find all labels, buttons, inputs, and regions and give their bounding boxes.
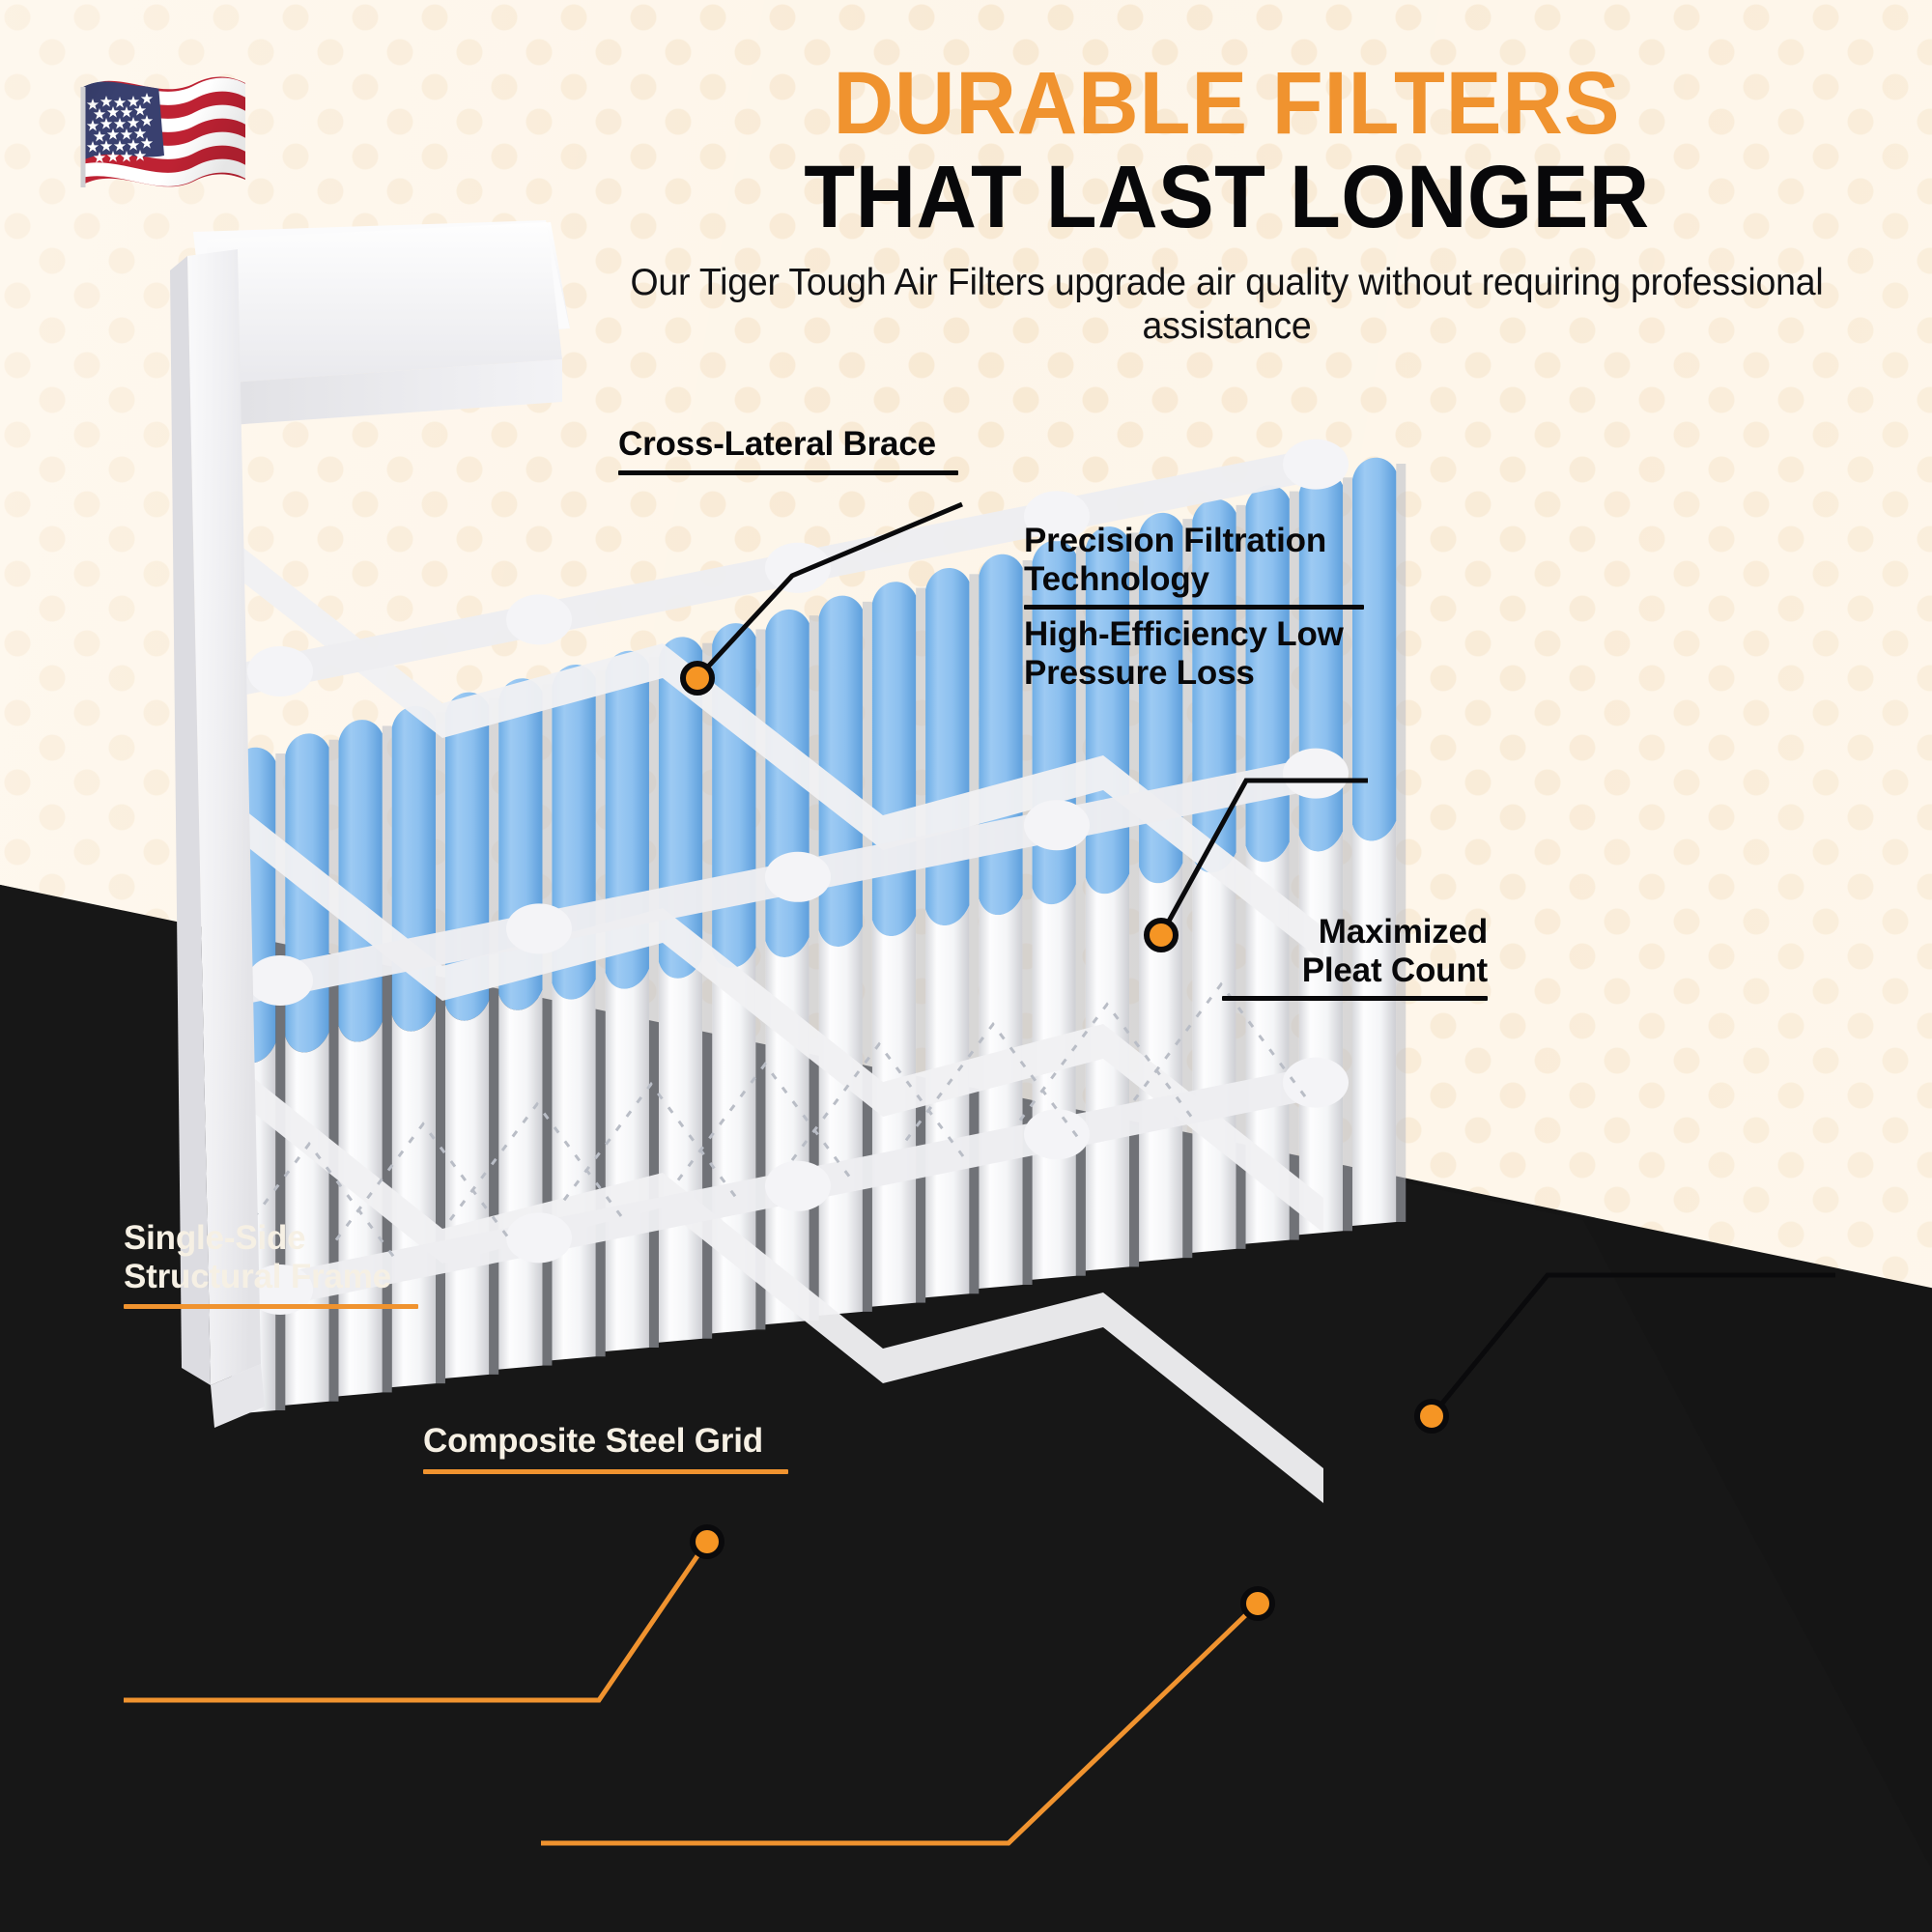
pleat-blue-segment — [979, 554, 1022, 915]
callout-rule — [618, 470, 958, 475]
pleat-media-segment — [552, 980, 595, 1360]
grid-node — [1024, 1109, 1090, 1159]
pleat-media-segment — [659, 958, 702, 1343]
callout-rule — [1024, 605, 1364, 610]
grid-node — [506, 1212, 572, 1263]
structural-frame — [187, 220, 570, 427]
callout-precision-filtration-label: Precision Filtration Technology — [1024, 522, 1364, 598]
pleat-media-segment — [979, 895, 1022, 1289]
pleat-gap-shadow — [489, 698, 498, 1375]
pleat-blue-segment — [872, 582, 916, 936]
grid-node — [1024, 800, 1090, 850]
pleat-media-segment — [498, 990, 542, 1370]
headline-primary: DURABLE FILTERS — [618, 60, 1835, 147]
pleat-gap-shadow — [649, 657, 659, 1348]
pleat-gap-shadow — [596, 670, 606, 1356]
pleat-media-segment — [1352, 821, 1396, 1226]
grid-node — [765, 1161, 831, 1211]
callout-precision-filtration: Precision Filtration Technology — [1024, 522, 1364, 610]
grid-node — [1283, 749, 1349, 799]
pleat-media-segment — [819, 926, 863, 1316]
pleat-blue-segment — [338, 720, 382, 1041]
callout-rule — [1222, 996, 1488, 1001]
grid-node — [247, 955, 313, 1006]
pleat-gap-shadow — [810, 615, 819, 1321]
pleat-gap-shadow — [436, 712, 445, 1383]
pleat-media-segment — [1299, 832, 1343, 1236]
pleat-gap-shadow — [916, 588, 925, 1303]
callout-composite-steel-grid: Composite Steel Grid — [423, 1422, 788, 1474]
pleat-blue-segment — [712, 623, 755, 968]
pleat-media-segment — [445, 1001, 489, 1378]
callout-rule — [423, 1469, 788, 1474]
callout-composite-steel-grid-label: Composite Steel Grid — [423, 1422, 788, 1461]
grid-node — [247, 646, 313, 696]
callout-maximized-pleat-count-label: Maximized Pleat Count — [1222, 913, 1488, 989]
grid-node — [765, 852, 831, 902]
callout-cross-lateral-brace-label: Cross-Lateral Brace — [618, 425, 958, 464]
pleat-media-segment — [606, 969, 649, 1351]
pleat-blue-segment — [925, 568, 969, 925]
pleat-gap-shadow — [1396, 464, 1406, 1222]
callout-cross-lateral-brace: Cross-Lateral Brace — [618, 425, 958, 475]
grid-node — [765, 543, 831, 593]
grid-node — [506, 903, 572, 953]
grid-node — [1283, 1058, 1349, 1108]
pleat-gap-shadow — [969, 574, 979, 1293]
grid-node — [506, 594, 572, 644]
callout-high-efficiency-label: High-Efficiency Low Pressure Loss — [1024, 615, 1344, 692]
pleat-media-segment — [1033, 884, 1076, 1279]
callout-single-side-structural-frame-label: Single-Side Structural Frame — [124, 1219, 418, 1295]
usa-flag-icon — [70, 64, 247, 209]
callout-rule — [124, 1304, 418, 1309]
callout-maximized-pleat-count: Maximized Pleat Count — [1222, 913, 1488, 1001]
infographic-canvas: DURABLE FILTERS THAT LAST LONGER Our Tig… — [0, 0, 1932, 1932]
pleat-gap-shadow — [863, 602, 872, 1312]
grid-node — [1283, 440, 1349, 490]
pleat-blue-segment — [1352, 458, 1396, 841]
callout-high-efficiency: High-Efficiency Low Pressure Loss — [1024, 615, 1344, 692]
callout-single-side-structural-frame: Single-Side Structural Frame — [124, 1219, 418, 1309]
pleat-gap-shadow — [542, 685, 552, 1366]
